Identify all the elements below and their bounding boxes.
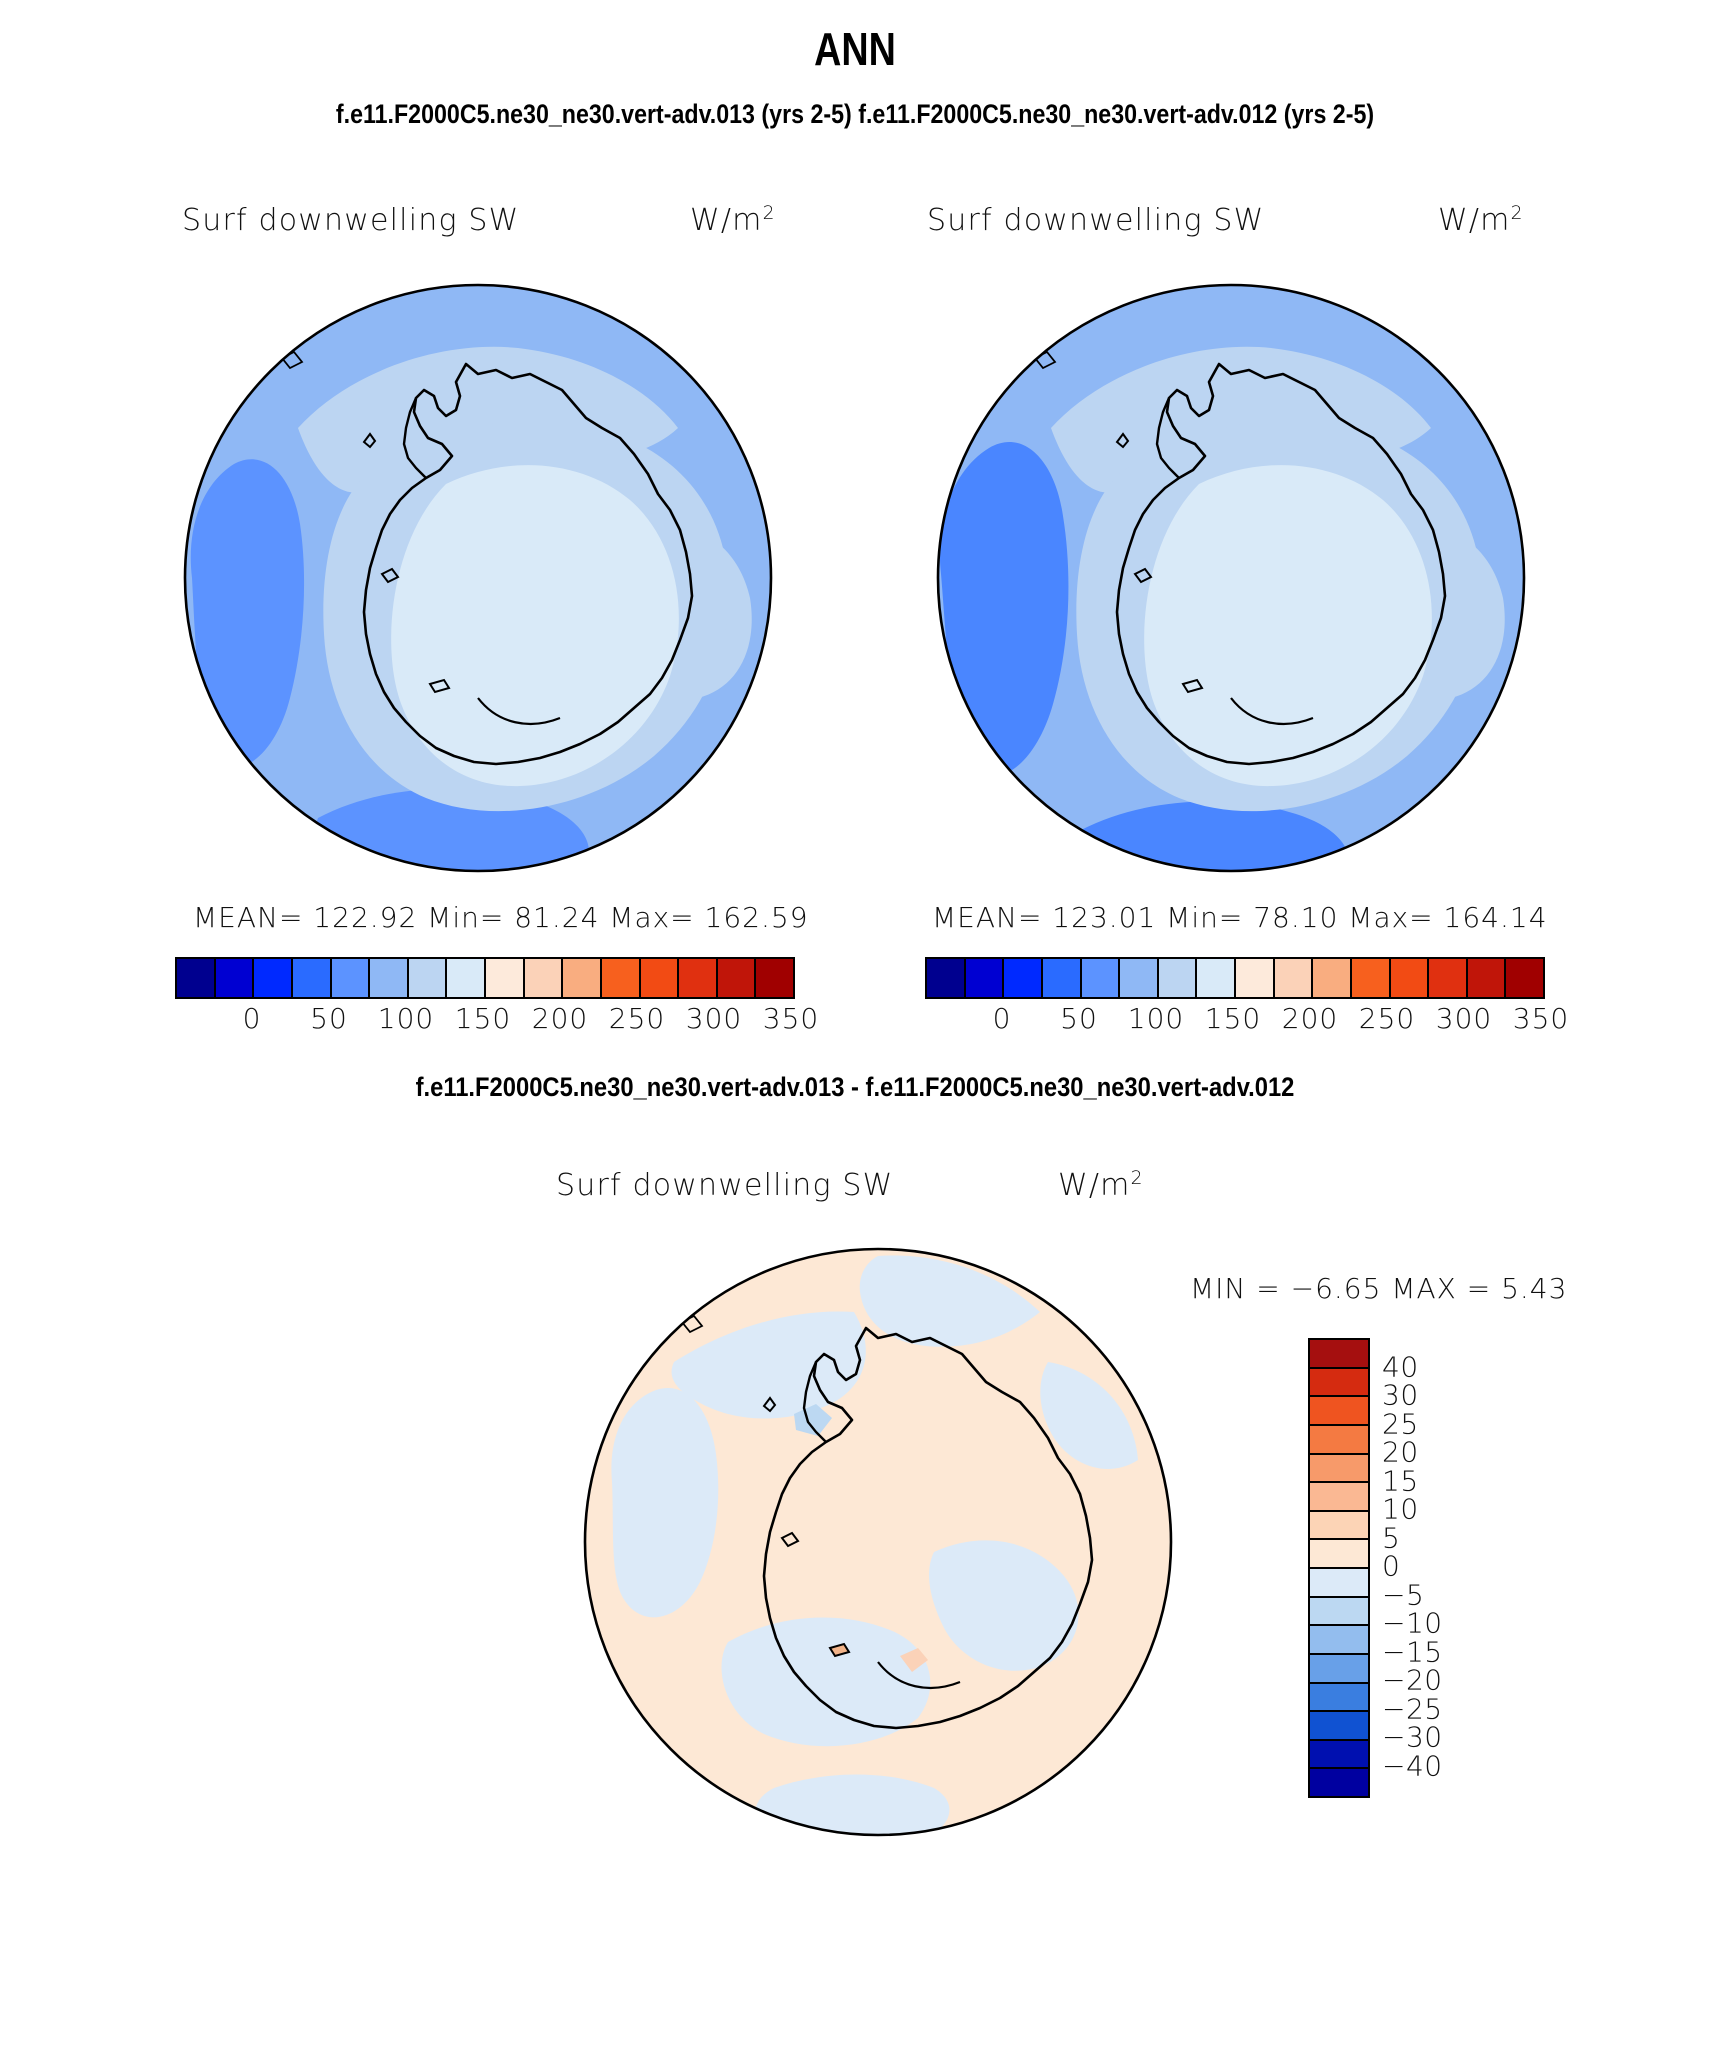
left-units-base: W/m — [690, 203, 763, 238]
colorbar-swatch-12 — [641, 959, 680, 997]
right-units-base: W/m — [1438, 203, 1511, 238]
diff-variable-label: Surf downwelling SW — [556, 1168, 894, 1203]
diff-colorbar-swatch-4 — [1310, 1455, 1368, 1484]
left-map-globe — [178, 278, 778, 878]
diff-colorbar-swatch-6 — [1310, 1512, 1368, 1541]
diff-colorbar-swatch-1 — [1310, 1369, 1368, 1398]
colorbar-swatch-7 — [1197, 959, 1236, 997]
colorbar-tick-label: 350 — [1513, 1002, 1569, 1035]
colorbar-swatch-15 — [1506, 959, 1543, 997]
colorbar-swatch-13 — [679, 959, 718, 997]
colorbar-tick-label: 300 — [686, 1002, 742, 1035]
colorbar-swatch-1 — [216, 959, 255, 997]
left-map-svg — [178, 278, 778, 878]
colorbar-tick-label: 100 — [1128, 1002, 1184, 1035]
colorbar-swatch-0 — [927, 959, 966, 997]
diff-colorbar-swatch-10 — [1310, 1626, 1368, 1655]
colorbar-swatch-11 — [602, 959, 641, 997]
diff-colorbar-swatch-13 — [1310, 1712, 1368, 1741]
colorbar-tick-label: 100 — [378, 1002, 434, 1035]
diff-units-base: W/m — [1058, 1168, 1131, 1203]
colorbar-swatch-2 — [254, 959, 293, 997]
diff-colorbar-swatch-3 — [1310, 1426, 1368, 1455]
left-units-label: W/m2 — [690, 203, 776, 238]
diff-units-exponent: 2 — [1131, 1168, 1144, 1189]
diff-colorbar-swatch-2 — [1310, 1397, 1368, 1426]
colorbar-tick-label: 150 — [1205, 1002, 1261, 1035]
colorbar-swatch-2 — [1004, 959, 1043, 997]
colorbar-swatch-0 — [177, 959, 216, 997]
colorbar-tick-label: 300 — [1436, 1002, 1492, 1035]
left-stats-label: MEAN= 122.92 Min= 81.24 Max= 162.59 — [193, 901, 809, 934]
right-units-exponent: 2 — [1511, 203, 1524, 224]
right-map-svg — [931, 278, 1531, 878]
colorbar-swatch-8 — [486, 959, 525, 997]
diff-colorbar-swatch-5 — [1310, 1483, 1368, 1512]
diff-colorbar-swatch-7 — [1310, 1540, 1368, 1569]
diff-colorbar-swatch-9 — [1310, 1598, 1368, 1627]
page-title: ANN — [154, 22, 1556, 76]
diff-colorbar — [1308, 1338, 1370, 1798]
left-variable-label: Surf downwelling SW — [182, 203, 520, 238]
diff-minmax-label: MIN = −6.65 MAX = 5.43 — [1190, 1272, 1567, 1305]
colorbar-swatch-9 — [1275, 959, 1314, 997]
diff-map-svg — [578, 1242, 1178, 1842]
right-colorbar — [925, 957, 1545, 999]
right-stats-label: MEAN= 123.01 Min= 78.10 Max= 164.14 — [932, 901, 1548, 934]
colorbar-swatch-5 — [1120, 959, 1159, 997]
colorbar-swatch-7 — [447, 959, 486, 997]
diff-colorbar-swatch-0 — [1310, 1340, 1368, 1369]
colorbar-tick-label: 250 — [1359, 1002, 1415, 1035]
colorbar-swatch-12 — [1391, 959, 1430, 997]
colorbar-tick-label: 200 — [1282, 1002, 1338, 1035]
diff-colorbar-swatch-8 — [1310, 1569, 1368, 1598]
diff-colorbar-tick-label: −40 — [1382, 1749, 1443, 1782]
left-colorbar-ticks: 050100150200250300350 — [175, 1002, 791, 1038]
colorbar-swatch-6 — [1159, 959, 1198, 997]
diff-colorbar-swatch-11 — [1310, 1655, 1368, 1684]
colorbar-tick-label: 150 — [455, 1002, 511, 1035]
colorbar-swatch-14 — [1468, 959, 1507, 997]
colorbar-tick-label: 350 — [763, 1002, 819, 1035]
colorbar-swatch-3 — [293, 959, 332, 997]
colorbar-swatch-4 — [332, 959, 371, 997]
right-variable-label: Surf downwelling SW — [927, 203, 1265, 238]
subtitle-case-names: f.e11.F2000C5.ne30_ne30.vert-adv.013 (yr… — [120, 99, 1591, 130]
colorbar-swatch-11 — [1352, 959, 1391, 997]
colorbar-swatch-15 — [756, 959, 793, 997]
colorbar-tick-label: 50 — [1060, 1002, 1098, 1035]
diff-colorbar-swatch-15 — [1310, 1769, 1368, 1796]
colorbar-swatch-10 — [1313, 959, 1352, 997]
colorbar-swatch-5 — [370, 959, 409, 997]
colorbar-tick-label: 0 — [243, 1002, 262, 1035]
colorbar-tick-label: 200 — [532, 1002, 588, 1035]
colorbar-swatch-14 — [718, 959, 757, 997]
diff-units-label: W/m2 — [1058, 1168, 1144, 1203]
colorbar-tick-label: 250 — [609, 1002, 665, 1035]
left-units-exponent: 2 — [763, 203, 776, 224]
colorbar-tick-label: 50 — [310, 1002, 348, 1035]
right-units-label: W/m2 — [1438, 203, 1524, 238]
colorbar-swatch-3 — [1043, 959, 1082, 997]
left-colorbar — [175, 957, 795, 999]
colorbar-swatch-4 — [1082, 959, 1121, 997]
difference-title: f.e11.F2000C5.ne30_ne30.vert-adv.013 - f… — [103, 1072, 1608, 1103]
right-colorbar-ticks: 050100150200250300350 — [925, 1002, 1541, 1038]
colorbar-swatch-10 — [563, 959, 602, 997]
diff-colorbar-swatch-12 — [1310, 1684, 1368, 1713]
diff-colorbar-ticks: 40302520151050−5−10−15−20−25−30−40 — [1382, 1338, 1502, 1794]
diff-map-globe — [578, 1242, 1178, 1842]
colorbar-swatch-13 — [1429, 959, 1468, 997]
colorbar-swatch-8 — [1236, 959, 1275, 997]
colorbar-swatch-1 — [966, 959, 1005, 997]
diff-colorbar-swatch-14 — [1310, 1741, 1368, 1770]
colorbar-swatch-6 — [409, 959, 448, 997]
colorbar-tick-label: 0 — [993, 1002, 1012, 1035]
right-map-globe — [931, 278, 1531, 878]
colorbar-swatch-9 — [525, 959, 564, 997]
